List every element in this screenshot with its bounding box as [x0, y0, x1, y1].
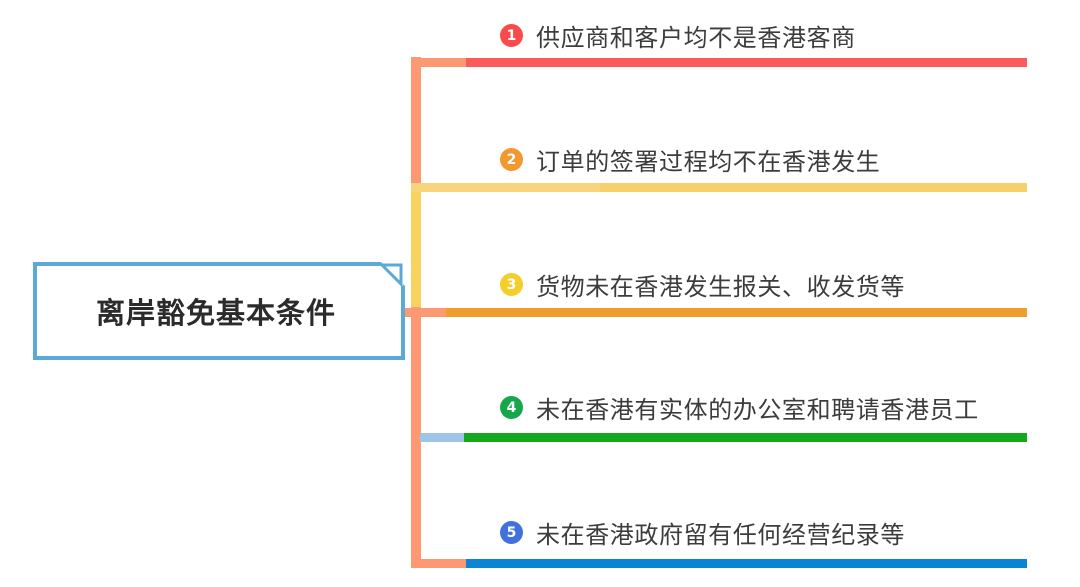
branch-5-number-badge: 5: [500, 521, 523, 544]
spine-segment-upper: [411, 57, 421, 187]
branch-label-2[interactable]: 2 订单的签署过程均不在香港发生: [500, 142, 880, 177]
branch-5-text: 未在香港政府留有任何经营纪录等: [536, 515, 905, 550]
central-node-title: 离岸豁免基本条件: [33, 262, 405, 360]
branch-label-3[interactable]: 3 货物未在香港发生报关、收发货等: [500, 267, 905, 302]
spine-segment-yellow: [411, 183, 421, 313]
branch-4-line: [464, 433, 1027, 442]
branch-2-number-badge: 2: [500, 148, 523, 171]
branch-3-line: [446, 308, 1027, 317]
branch-2-lead: [411, 183, 601, 192]
central-node[interactable]: 离岸豁免基本条件: [33, 262, 405, 360]
spine-segment-lower: [411, 307, 421, 568]
branch-4-number-badge: 4: [500, 396, 523, 419]
branch-1-lead: [411, 58, 467, 67]
mindmap-canvas: 离岸豁免基本条件 1 供应商和客户均不是香港客商 2 订单的签署过程均不在香港发…: [0, 0, 1080, 587]
branch-2-text: 订单的签署过程均不在香港发生: [536, 142, 880, 177]
branch-5-line: [466, 559, 1027, 568]
branch-4-text: 未在香港有实体的办公室和聘请香港员工: [536, 390, 979, 425]
branch-1-line: [466, 58, 1027, 67]
branch-3-number-badge: 3: [500, 273, 523, 296]
branch-3-text: 货物未在香港发生报关、收发货等: [536, 267, 905, 302]
branch-label-5[interactable]: 5 未在香港政府留有任何经营纪录等: [500, 515, 905, 550]
branch-1-text: 供应商和客户均不是香港客商: [536, 18, 856, 53]
branch-5-lead: [411, 559, 467, 568]
branch-2-line: [600, 183, 1027, 192]
branch-label-4[interactable]: 4 未在香港有实体的办公室和聘请香港员工: [500, 390, 979, 425]
branch-label-1[interactable]: 1 供应商和客户均不是香港客商: [500, 18, 856, 53]
branch-4-lead: [420, 433, 465, 442]
branch-1-number-badge: 1: [500, 24, 523, 47]
